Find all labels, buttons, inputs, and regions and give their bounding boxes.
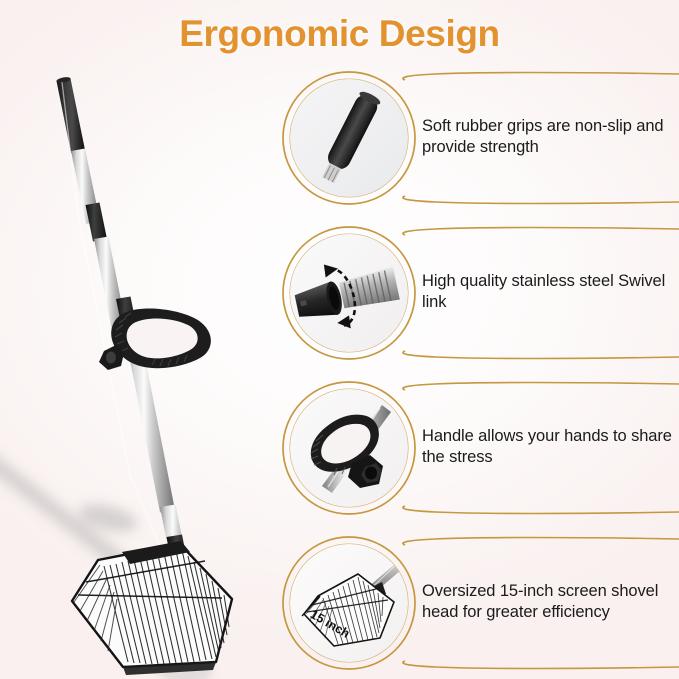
screen-shovel-head-photo: 15 inch bbox=[290, 544, 408, 662]
callout-text: High quality stainless steel Swivel link bbox=[422, 271, 674, 315]
callout-text: Soft rubber grips are non-slip and provi… bbox=[422, 116, 674, 160]
assist-handle-photo bbox=[290, 389, 408, 507]
infographic-page: Ergonomic Design bbox=[0, 0, 679, 679]
callout-item[interactable]: Handle allows your hands to share the st… bbox=[255, 370, 679, 525]
soft-rubber-grip-photo bbox=[290, 79, 408, 197]
callout-item[interactable]: High quality stainless steel Swivel link bbox=[255, 215, 679, 370]
page-title: Ergonomic Design bbox=[0, 13, 679, 55]
callout-item[interactable]: Soft rubber grips are non-slip and provi… bbox=[255, 60, 679, 215]
callout-text: Handle allows your hands to share the st… bbox=[422, 426, 674, 470]
callout-text: Oversized 15-inch screen shovel head for… bbox=[422, 581, 674, 625]
top-rubber-grip bbox=[56, 76, 85, 153]
callout-item[interactable]: 15 inch Oversized 15-inch screen shovel … bbox=[255, 525, 679, 679]
wire-screen-shovel-head bbox=[72, 541, 232, 675]
stainless-swivel-link-photo bbox=[290, 234, 408, 352]
callout-list: Soft rubber grips are non-slip and provi… bbox=[255, 60, 679, 679]
